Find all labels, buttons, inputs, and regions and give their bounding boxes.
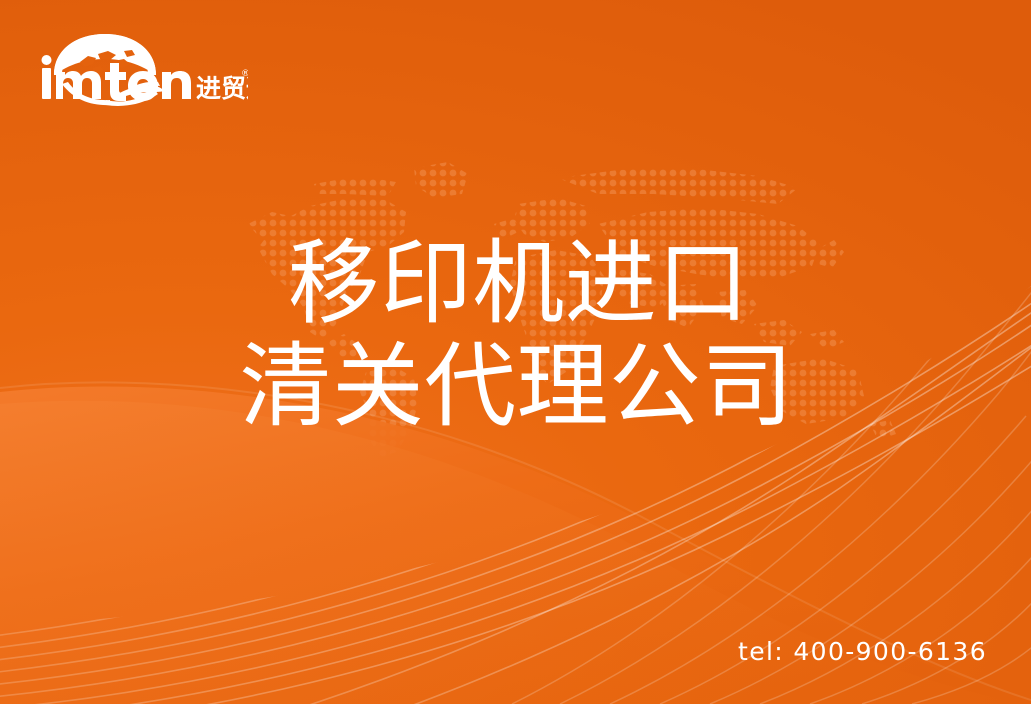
- contact-telephone: tel: 400-900-6136: [738, 637, 987, 666]
- headline-line-2: 清关代理公司: [2, 335, 1031, 438]
- globe-arc-icon: [53, 32, 157, 75]
- promo-banner: 进贸通 ® 移印机进口 清关代理公司 tel: 400-900-6136: [0, 0, 1031, 704]
- registered-mark: ®: [241, 69, 248, 79]
- headline-line-1: 移印机进口: [6, 232, 1031, 335]
- logo[interactable]: 进贸通 ®: [36, 28, 248, 106]
- page-title: 移印机进口 清关代理公司: [0, 232, 1031, 438]
